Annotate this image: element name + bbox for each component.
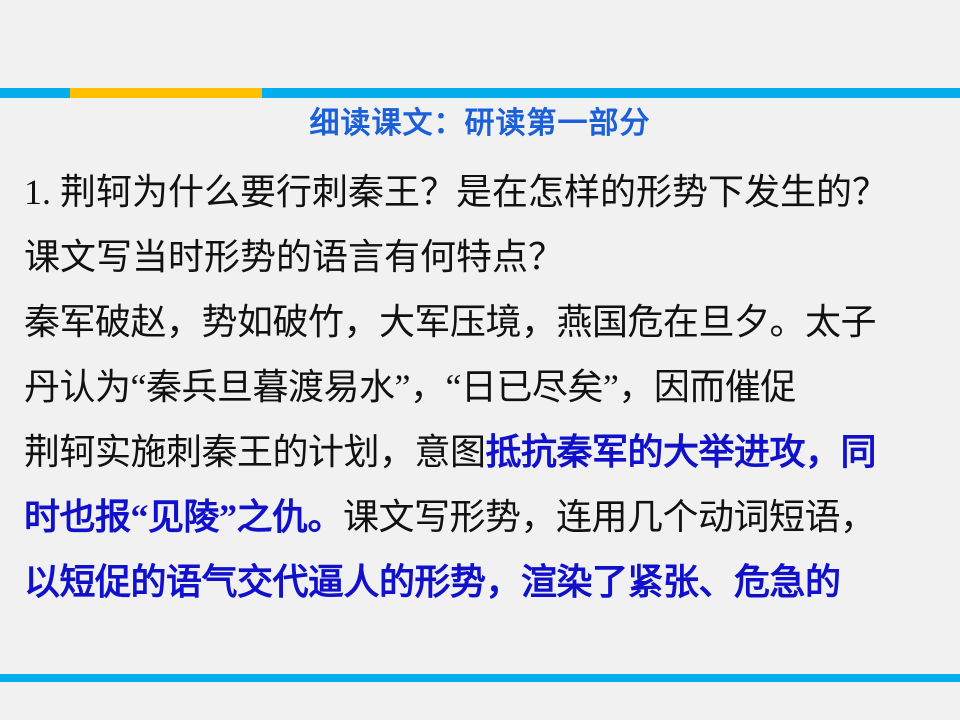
body-line-1: 1. 荆轲为什么要行刺秦王？是在怎样的形势下发生的？ <box>24 160 940 225</box>
body-line-6-segment-2: 课文写形势，连用几个动词短语， <box>343 497 876 537</box>
body-line-4-segment-1: 丹认为“秦兵旦暮渡易水”，“日已尽矣”，因而催促 <box>24 367 796 407</box>
body-line-5-segment-2-emphasis: 抵抗秦军的大举进攻，同 <box>486 432 877 472</box>
top-accent-bar-highlight <box>70 88 262 98</box>
slide-body: 1. 荆轲为什么要行刺秦王？是在怎样的形势下发生的？ 课文写当时形势的语言有何特… <box>24 160 940 615</box>
slide-title: 细读课文：研读第一部分 <box>0 104 960 144</box>
body-line-1-segment-1: 1. 荆轲为什么要行刺秦王？是在怎样的形势下发生的？ <box>24 172 888 212</box>
body-line-3-segment-1: 秦军破赵，势如破竹，大军压境，燕国危在旦夕。太子 <box>24 302 876 342</box>
body-line-6-segment-1-emphasis: 时也报“见陵”之仇。 <box>24 497 343 537</box>
body-line-7-segment-1-emphasis: 以短促的语气交代逼人的形势，渲染了紧张、危急的 <box>24 562 841 602</box>
body-line-2-segment-1: 课文写当时形势的语言有何特点？ <box>24 237 564 277</box>
slide-canvas: 细读课文：研读第一部分 1. 荆轲为什么要行刺秦王？是在怎样的形势下发生的？ 课… <box>0 0 960 720</box>
body-line-7: 以短促的语气交代逼人的形势，渲染了紧张、危急的 <box>24 550 940 615</box>
body-line-2: 课文写当时形势的语言有何特点？ <box>24 225 940 290</box>
body-line-5: 荆轲实施刺秦王的计划，意图抵抗秦军的大举进攻，同 <box>24 420 940 485</box>
bottom-accent-bar <box>0 674 960 682</box>
body-line-4: 丹认为“秦兵旦暮渡易水”，“日已尽矣”，因而催促 <box>24 355 940 420</box>
body-line-3: 秦军破赵，势如破竹，大军压境，燕国危在旦夕。太子 <box>24 290 940 355</box>
body-line-6: 时也报“见陵”之仇。课文写形势，连用几个动词短语， <box>24 485 940 550</box>
body-line-5-segment-1: 荆轲实施刺秦王的计划，意图 <box>24 432 486 472</box>
